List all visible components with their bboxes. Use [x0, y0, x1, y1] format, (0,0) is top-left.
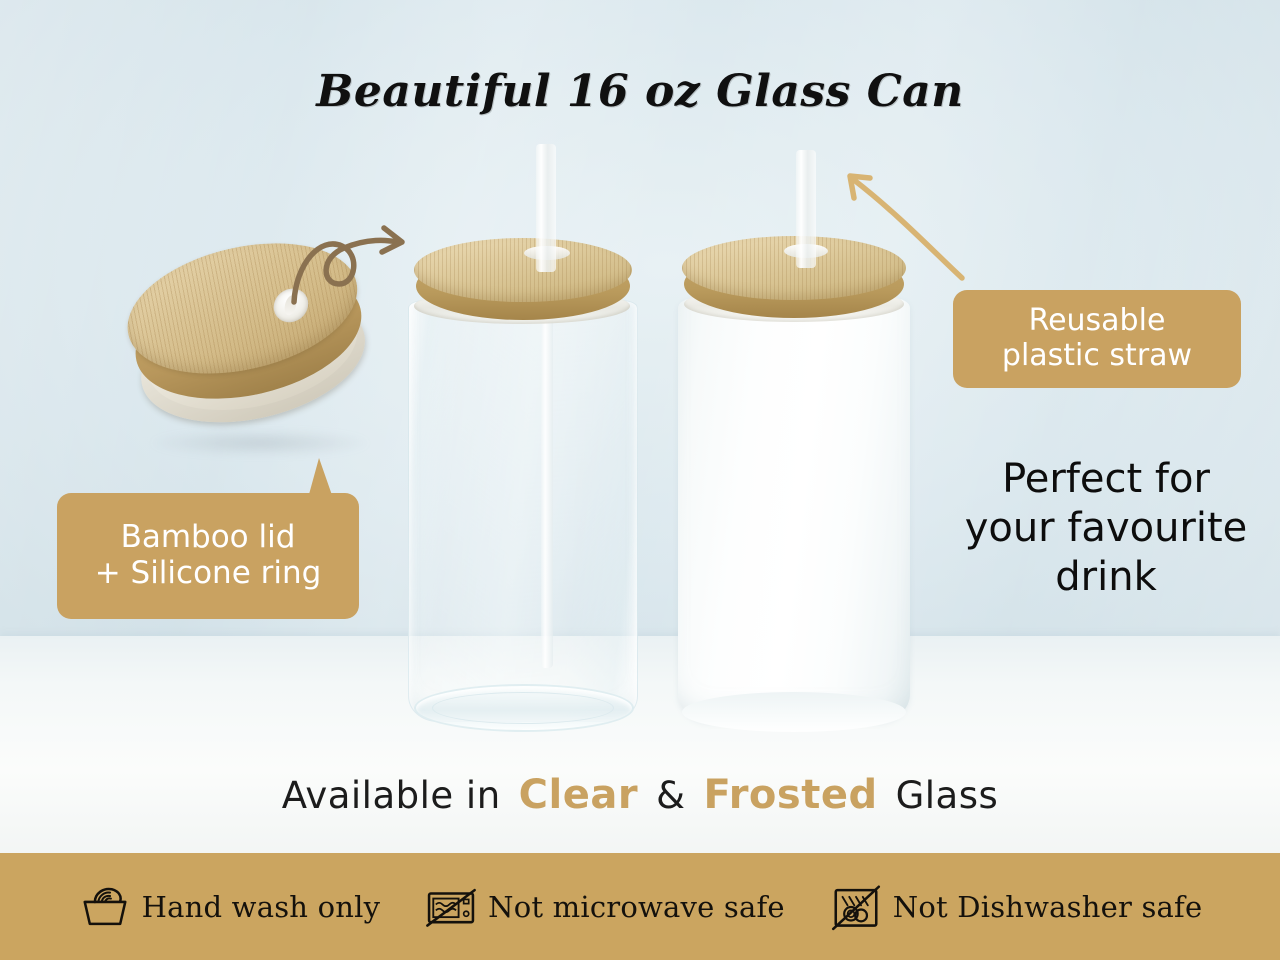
no-microwave-icon	[424, 880, 478, 934]
plastic-straw-inside-clear	[541, 268, 553, 668]
frosted-can-base	[682, 692, 906, 732]
table-surface	[0, 636, 1280, 860]
care-item-no-microwave: Not microwave safe	[424, 880, 785, 934]
perfect-line3: drink	[946, 553, 1266, 602]
available-conjunction: &	[656, 774, 685, 817]
callout-bamboo-lid: Bamboo lid + Silicone ring	[57, 493, 359, 619]
no-dishwasher-icon	[829, 880, 883, 934]
callout-straw-line1: Reusable	[963, 304, 1231, 339]
callout-straw-line2: plastic straw	[963, 339, 1231, 374]
care-instructions-bar: Hand wash only Not microwave safe	[0, 853, 1280, 960]
plastic-straw-clear	[536, 144, 556, 272]
available-suffix: Glass	[896, 774, 999, 817]
care-label-hand-wash: Hand wash only	[142, 890, 381, 924]
care-label-no-dishwasher: Not Dishwasher safe	[893, 890, 1203, 924]
hand-wash-icon	[78, 880, 132, 934]
callout-reusable-straw: Reusable plastic straw	[953, 290, 1241, 388]
perfect-for-text: Perfect for your favourite drink	[946, 455, 1266, 601]
available-option-frosted: Frosted	[697, 772, 883, 818]
care-label-no-microwave: Not microwave safe	[488, 890, 785, 924]
care-item-no-dishwasher: Not Dishwasher safe	[829, 880, 1203, 934]
page-title: Beautiful 16 oz Glass Can	[0, 66, 1280, 117]
callout-bamboo-line1: Bamboo lid	[69, 520, 347, 556]
perfect-line1: Perfect for	[946, 455, 1266, 504]
frosted-can-body	[678, 298, 910, 722]
curved-arrow-icon	[826, 158, 976, 298]
plastic-straw-frosted	[796, 150, 816, 268]
curly-arrow-icon	[282, 210, 422, 310]
available-option-clear: Clear	[513, 772, 644, 818]
available-finishes-line: Available inClear&FrostedGlass	[0, 772, 1280, 818]
available-prefix: Available in	[282, 774, 501, 817]
product-infographic: Beautiful 16 oz Glass Can	[0, 0, 1280, 960]
callout-bamboo-line2: + Silicone ring	[69, 556, 347, 592]
clear-can-body	[408, 300, 638, 722]
callout-bamboo-tail	[308, 458, 333, 498]
bamboo-lid-top-clear	[414, 238, 632, 302]
care-item-hand-wash: Hand wash only	[78, 880, 381, 934]
clear-can-base-inner	[432, 692, 614, 724]
perfect-line2: your favourite	[946, 504, 1266, 553]
